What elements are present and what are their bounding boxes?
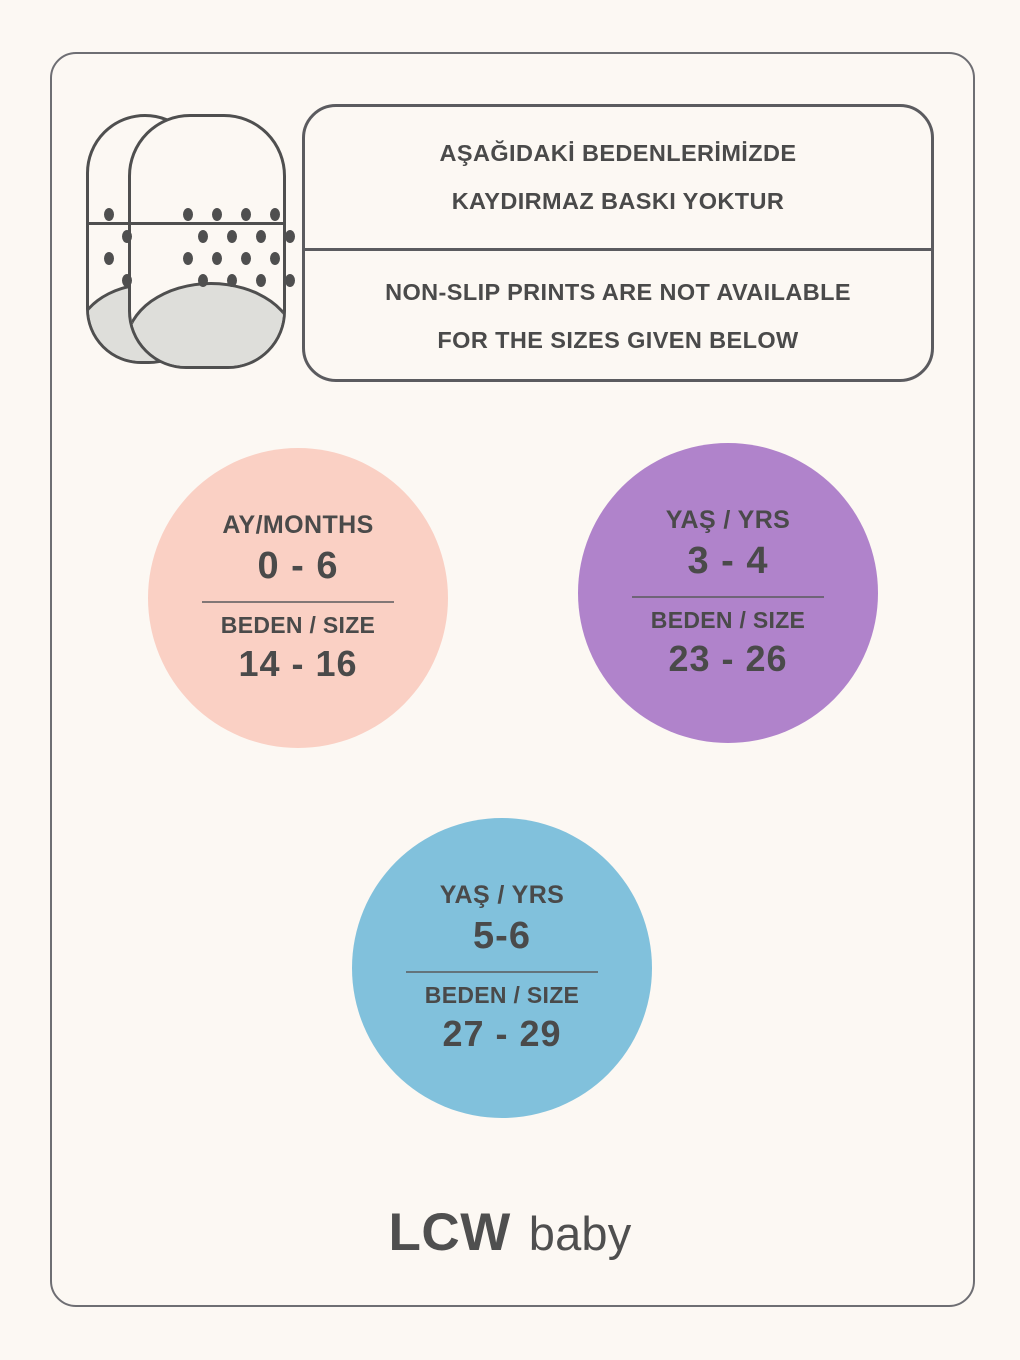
notice-turkish-line-1: AŞAĞIDAKİ BEDENLERİMİZDE: [440, 142, 797, 166]
age-value: 3 - 4: [687, 541, 768, 583]
notice-english: NON-SLIP PRINTS ARE NOT AVAILABLE FOR TH…: [305, 251, 931, 382]
notice-box: AŞAĞIDAKİ BEDENLERİMİZDE KAYDIRMAZ BASKI…: [302, 104, 934, 382]
circle-divider: [406, 971, 598, 973]
brand-mark: LCW: [389, 1203, 511, 1262]
non-slip-socks-icon: [82, 108, 292, 378]
brand-sub: baby: [529, 1207, 632, 1260]
age-label: AY/MONTHS: [222, 512, 373, 538]
size-value: 14 - 16: [238, 644, 357, 684]
size-label: BEDEN / SIZE: [425, 983, 579, 1007]
size-circle-years-3-4: YAŞ / YRS 3 - 4 BEDEN / SIZE 23 - 26: [578, 443, 878, 743]
brand-logo: LCWbaby: [0, 1202, 1020, 1263]
age-value: 0 - 6: [257, 546, 338, 588]
notice-english-line-1: NON-SLIP PRINTS ARE NOT AVAILABLE: [385, 281, 851, 305]
size-chart-page: AŞAĞIDAKİ BEDENLERİMİZDE KAYDIRMAZ BASKI…: [0, 0, 1020, 1360]
size-label: BEDEN / SIZE: [651, 608, 805, 632]
age-value: 5-6: [473, 916, 531, 958]
age-label: YAŞ / YRS: [666, 507, 791, 533]
size-value: 23 - 26: [668, 639, 787, 679]
notice-english-line-2: FOR THE SIZES GIVEN BELOW: [437, 329, 798, 353]
circle-divider: [632, 596, 824, 598]
sock-sole-shape: [128, 282, 286, 369]
size-circle-months-0-6: AY/MONTHS 0 - 6 BEDEN / SIZE 14 - 16: [148, 448, 448, 748]
size-circle-years-5-6: YAŞ / YRS 5-6 BEDEN / SIZE 27 - 29: [352, 818, 652, 1118]
size-label: BEDEN / SIZE: [221, 613, 375, 637]
age-label: YAŞ / YRS: [440, 882, 565, 908]
size-value: 27 - 29: [442, 1014, 561, 1054]
circle-divider: [202, 601, 394, 603]
notice-turkish-line-2: KAYDIRMAZ BASKI YOKTUR: [452, 190, 785, 214]
sock-front-shape: [128, 114, 286, 369]
notice-turkish: AŞAĞIDAKİ BEDENLERİMİZDE KAYDIRMAZ BASKI…: [305, 107, 931, 248]
sock-cuff-line: [131, 222, 283, 225]
